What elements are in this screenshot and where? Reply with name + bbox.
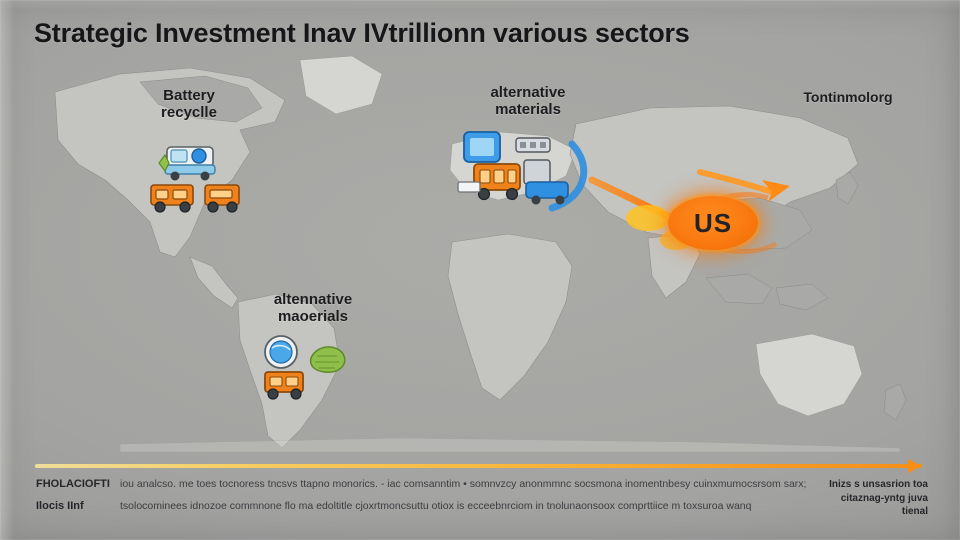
footer-line-1-key: FHOLACIOFTI [36,478,110,490]
orange-truck-icon [265,372,303,399]
tag-icon [516,138,550,152]
orange-machine-icon [474,164,520,200]
region-label-north-america: Battery recyclle [128,88,250,122]
orange-truck-icon [205,185,239,212]
arrow-head-icon [908,459,922,473]
grey-box-icon [524,160,550,184]
orange-truck-icon [151,185,193,212]
blue-machine-icon [526,182,568,205]
region-label-line2: recyclle [128,105,250,122]
infographic-canvas: Strategic Investment Inav IVtrillionn va… [0,0,960,540]
region-label-line2: materials [452,102,604,119]
canvas-edge-top [0,0,960,10]
white-bar-icon [458,182,480,192]
footer-line-1: FHOLACIOFTI iou analcso. me toes tocnore… [36,478,924,490]
region-label-europe: alternative materials [452,85,604,119]
us-badge[interactable]: US [668,196,758,250]
page-title: Strategic Investment Inav IVtrillionn va… [34,18,690,49]
region-label-line1: altennative [228,292,398,309]
region-label-line1: alternative [452,85,604,102]
region-label-south-america: altennative maoerials [228,292,398,326]
icon-cluster-europe [452,120,592,218]
icon-cluster-south-america [253,332,363,402]
recycling-truck-icon [159,147,215,181]
footer-tail-line2: tienal [812,505,928,519]
leaf-icon [311,347,345,372]
footer-tail-line1: Inizs s unsasrion toa citaznag-yntg juva [812,478,928,505]
us-badge-label: US [694,208,732,239]
footer-tail-note: Inizs s unsasrion toa citaznag-yntg juva… [812,478,928,519]
blue-monitor-icon [464,132,500,162]
footer-line-2-key: Ilocis IInf [36,500,110,512]
footer-divider [35,464,922,468]
globe-icon [265,336,297,368]
region-label-line2: maoerials [228,309,398,326]
region-label-line1: Battery [128,88,250,105]
icon-cluster-north-america [143,133,263,219]
footer-line-2-value: tsolocominees idnozoe commnone flo ma ed… [120,500,924,512]
footer-line-1-value: iou analcso. me toes tocnoress tncsvs tt… [120,478,924,490]
region-label-line1: Tontinmolorg [778,90,918,106]
footer-line-2: Ilocis IInf tsolocominees idnozoe commno… [36,500,924,512]
region-label-asia: Tontinmolorg [778,90,918,106]
